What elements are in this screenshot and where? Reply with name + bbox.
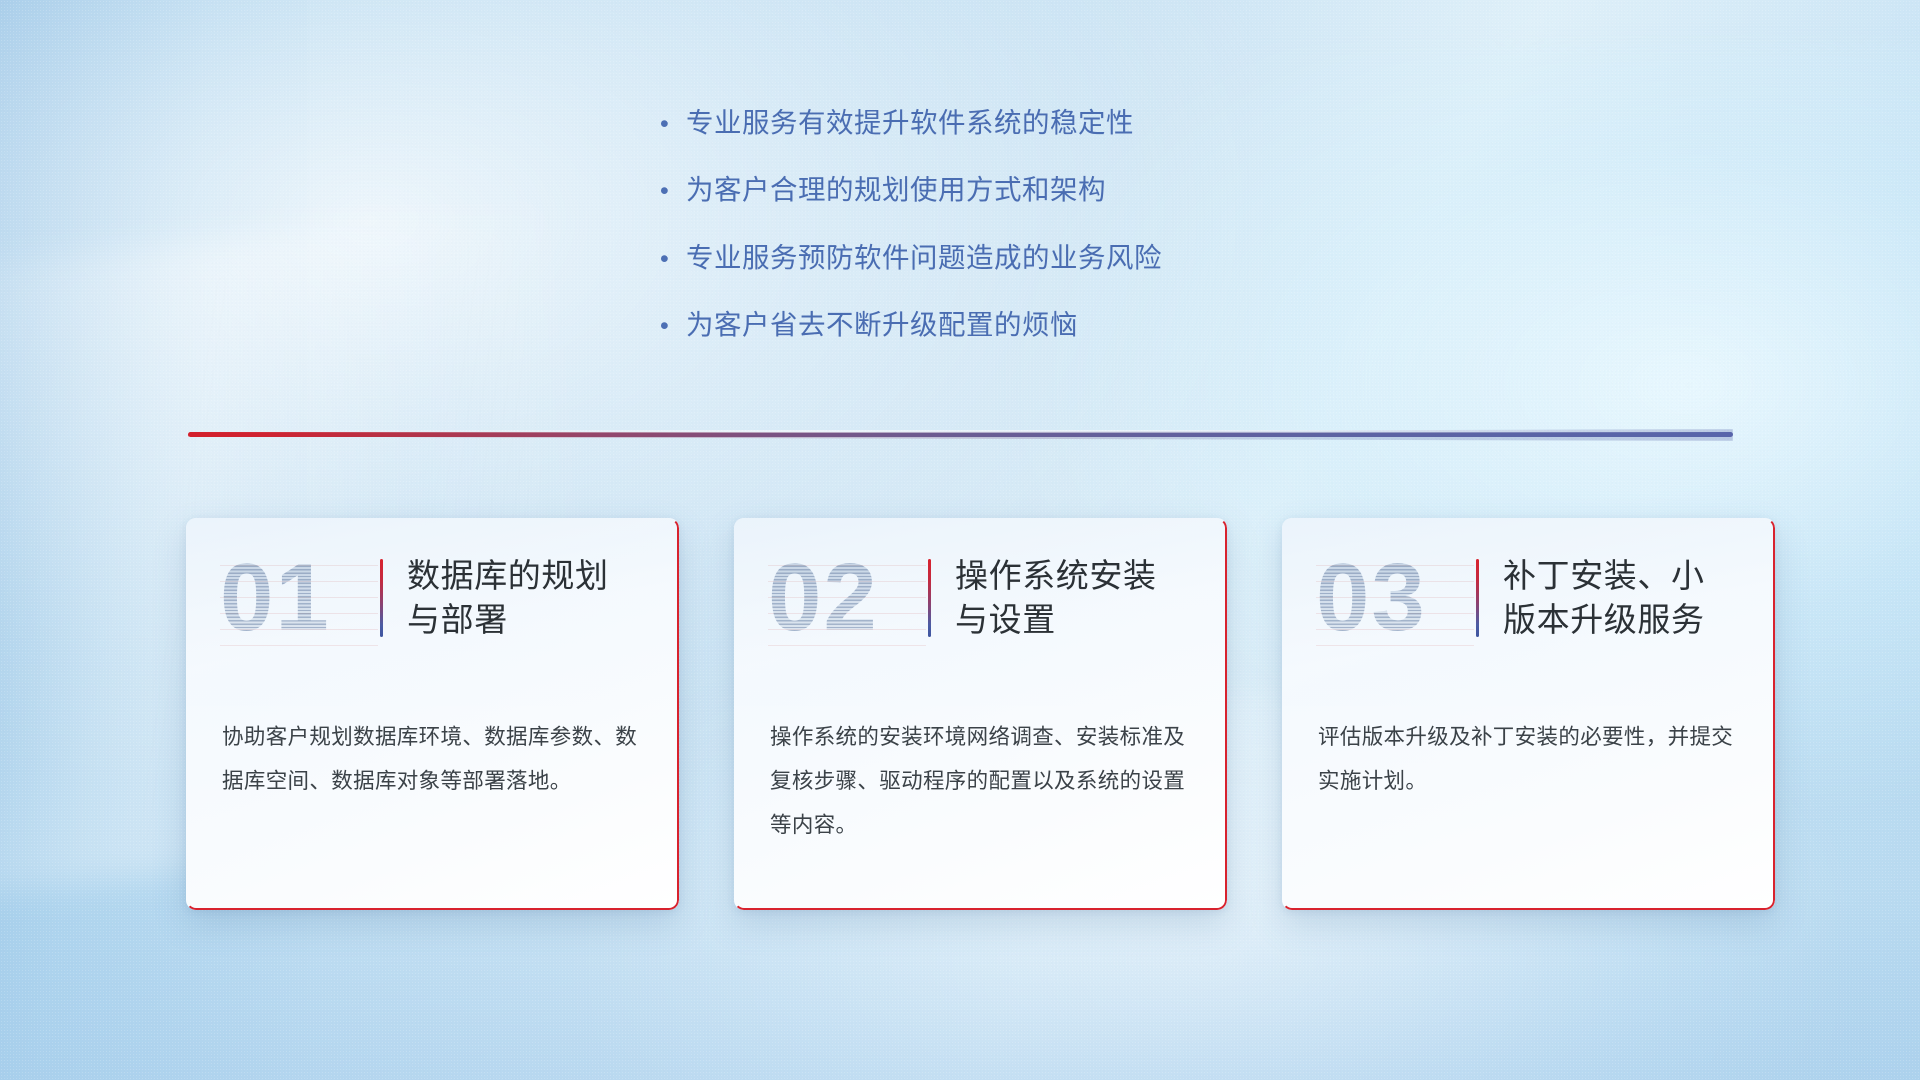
bullet-text: 为客户省去不断升级配置的烦恼: [686, 307, 1078, 343]
card-title: 补丁安装、小版本升级服务: [1503, 554, 1735, 642]
service-card[interactable]: 03 补丁安装、小版本升级服务 评估版本升级及补丁安装的必要性，并提交实施计划。: [1282, 518, 1775, 910]
bullet-marker-icon: •: [660, 112, 686, 137]
card-title: 数据库的规划与部署: [407, 554, 639, 642]
card-title: 操作系统安装与设置: [955, 554, 1187, 642]
bullet-text: 专业服务有效提升软件系统的稳定性: [686, 105, 1134, 141]
card-body-text: 协助客户规划数据库环境、数据库参数、数据库空间、数据库对象等部署落地。: [186, 678, 679, 804]
section-divider-bar: [188, 429, 1733, 441]
card-header: 01 数据库的规划与部署: [186, 518, 679, 678]
bullet-item-2: • 为客户合理的规划使用方式和架构: [660, 172, 1480, 208]
divider-highlight: [188, 430, 1733, 433]
bullet-text: 专业服务预防软件问题造成的业务风险: [686, 240, 1162, 276]
card-number-watermark: 03: [1316, 550, 1474, 646]
bullet-marker-icon: •: [660, 314, 686, 339]
service-card-list: 01 数据库的规划与部署 协助客户规划数据库环境、数据库参数、数据库空间、数据库…: [186, 518, 1775, 910]
bullet-marker-icon: •: [660, 179, 686, 204]
bullet-marker-icon: •: [660, 247, 686, 272]
card-title-divider: [1476, 559, 1479, 637]
card-body-text: 评估版本升级及补丁安装的必要性，并提交实施计划。: [1282, 678, 1775, 804]
card-title-divider: [380, 559, 383, 637]
bullet-item-4: • 为客户省去不断升级配置的烦恼: [660, 307, 1480, 343]
service-card[interactable]: 02 操作系统安装与设置 操作系统的安装环境网络调查、安装标准及复核步骤、驱动程…: [734, 518, 1227, 910]
card-header: 03 补丁安装、小版本升级服务: [1282, 518, 1775, 678]
card-title-divider: [928, 559, 931, 637]
card-body-text: 操作系统的安装环境网络调查、安装标准及复核步骤、驱动程序的配置以及系统的设置等内…: [734, 678, 1227, 848]
card-number-watermark: 01: [220, 550, 378, 646]
card-header: 02 操作系统安装与设置: [734, 518, 1227, 678]
bullet-item-1: • 专业服务有效提升软件系统的稳定性: [660, 105, 1480, 141]
service-card[interactable]: 01 数据库的规划与部署 协助客户规划数据库环境、数据库参数、数据库空间、数据库…: [186, 518, 679, 910]
bullet-text: 为客户合理的规划使用方式和架构: [686, 172, 1106, 208]
card-number-watermark: 02: [768, 550, 926, 646]
bullet-item-3: • 专业服务预防软件问题造成的业务风险: [660, 240, 1480, 276]
benefits-bullet-list: • 专业服务有效提升软件系统的稳定性 • 为客户合理的规划使用方式和架构 • 专…: [660, 105, 1480, 374]
